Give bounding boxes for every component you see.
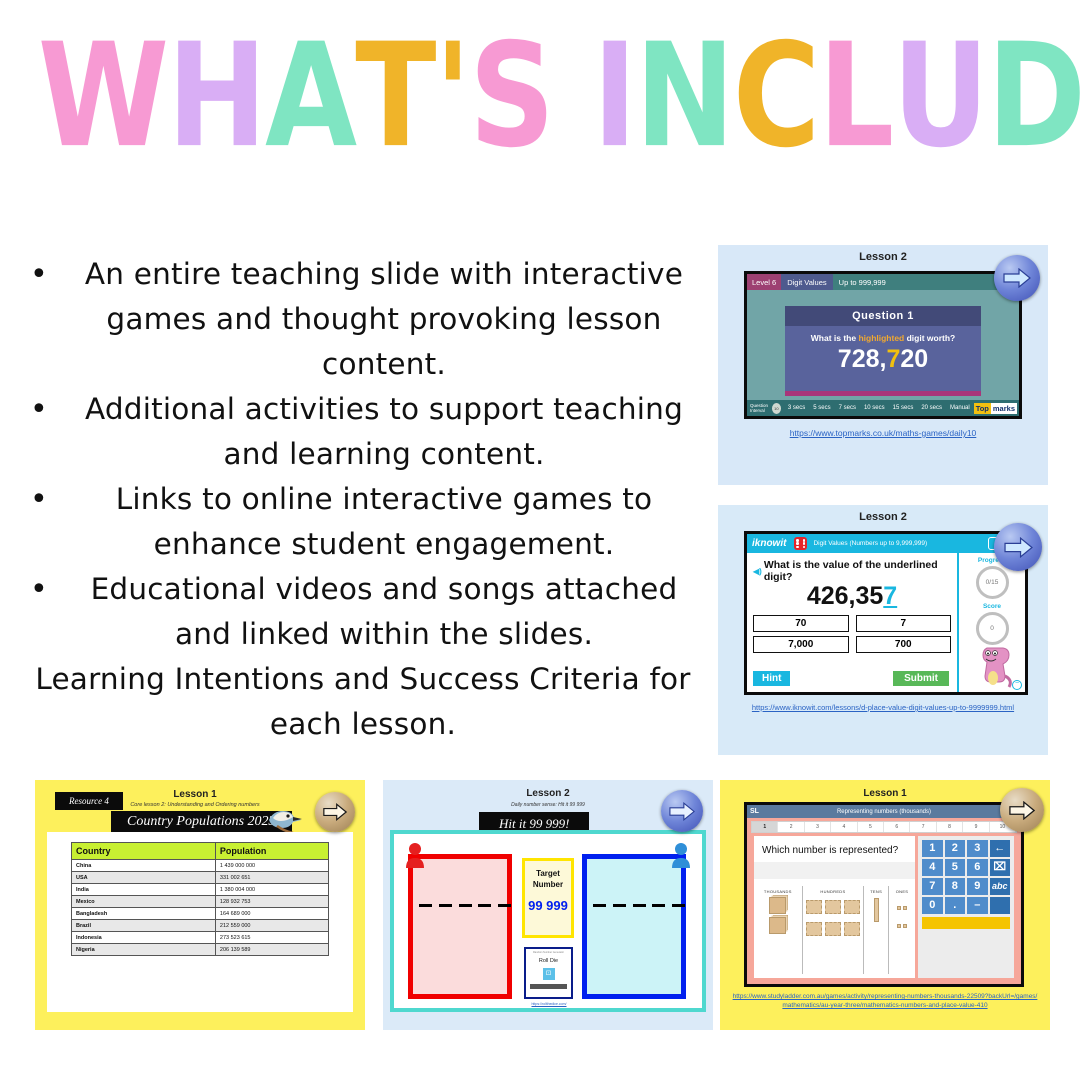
title-letter-11: U — [892, 13, 987, 181]
range-label: Up to 999,999 — [833, 274, 892, 290]
cell-population: 331 002 651 — [215, 872, 328, 884]
answer-input[interactable] — [922, 917, 1010, 929]
iknowit-logo: iknowit — [747, 538, 786, 549]
activity-title: Representing numbers (thousands) — [747, 809, 1021, 815]
numeric-keypad-panel: 1 2 3 ← 4 5 6 ⌧ 7 8 9 abc 0 . – — [918, 836, 1014, 978]
cell-population: 206 139 589 — [215, 944, 328, 956]
red-answer-blanks — [419, 904, 511, 907]
place-column-header: HUNDREDS — [803, 889, 864, 894]
question-text: What is the value of the underlined digi… — [764, 559, 951, 583]
zoom-out-icon[interactable]: − — [1012, 680, 1022, 690]
bullet-marker: • — [18, 477, 60, 522]
hundred-flat — [844, 900, 860, 914]
next-slide-button[interactable] — [661, 790, 703, 832]
screenshot-card-iknowit: Lesson 2 iknowit Digit Values (Numbers u… — [718, 505, 1048, 755]
keypad-key[interactable]: 4 — [922, 859, 943, 876]
next-arrow-icon — [1003, 268, 1031, 288]
target-label-line2: Number — [525, 879, 571, 890]
title-letter-7: I — [593, 13, 635, 181]
card-lesson-label: Lesson 2 — [718, 251, 1048, 263]
screenshot-card-country-populations: Resource 4 Lesson 1 Core lesson 2: Under… — [35, 780, 365, 1030]
list-trailing-text: Learning Intentions and Success Criteria… — [18, 657, 708, 747]
place-column-hundreds: HUNDREDS — [803, 886, 865, 974]
progress-ring: 0/15 — [976, 566, 1009, 599]
title-letter-12: D — [987, 13, 1080, 181]
iknowit-body: ◀) What is the value of the underlined d… — [747, 553, 1025, 692]
list-item-text: Additional activities to support teachin… — [60, 387, 708, 477]
place-column-header: ONES — [889, 889, 915, 894]
keypad-key[interactable]: 0 — [922, 897, 943, 914]
subject-label: Digit Values (Numbers up to 9,999,999) — [813, 540, 927, 547]
table-panel: Country Population China 1 439 000 000 U… — [47, 832, 353, 1012]
title-letter-4: ' — [435, 13, 470, 181]
screenshot-card-hit-it: Lesson 2 Daily number sense: Hit it 99 9… — [383, 780, 713, 1030]
question-text: Which number is represented? — [754, 836, 915, 856]
question-area: ◀) What is the value of the underlined d… — [747, 553, 957, 692]
dice-widget-header: Random Number Generator — [526, 951, 571, 954]
list-item: • An entire teaching slide with interact… — [18, 252, 708, 387]
next-slide-button[interactable] — [1000, 788, 1044, 832]
next-arrow-icon — [669, 802, 695, 821]
keypad-key[interactable]: 5 — [945, 859, 966, 876]
interval-label: Question Interval — [747, 403, 772, 413]
score-label: Score — [959, 603, 1025, 610]
title-letter-6 — [553, 13, 593, 181]
cell-country: China — [72, 860, 216, 872]
screenshot-card-studyladder: Lesson 1 SL Representing numbers (thousa… — [720, 780, 1050, 1030]
answer-option[interactable]: 700 — [856, 636, 952, 653]
speaker-icon[interactable]: ◀) — [753, 567, 762, 576]
place-column-tens: TENS — [864, 886, 889, 974]
hundred-flat — [844, 922, 860, 936]
title-letter-3: T — [355, 13, 434, 181]
roll-die-label: Roll Die — [526, 958, 571, 964]
next-slide-button[interactable] — [994, 255, 1040, 301]
blue-answer-blanks — [593, 904, 685, 907]
step-progress-bar: 1 2 3 4 5 6 7 8 9 10 — [751, 821, 1017, 833]
numeric-keypad: 1 2 3 ← 4 5 6 ⌧ 7 8 9 abc 0 . – — [922, 840, 1010, 914]
activity-frame: Target Number 99 999 Random Number Gener… — [390, 830, 706, 1012]
place-column-header: TENS — [864, 889, 888, 894]
card-lesson-label: Lesson 2 — [718, 511, 1048, 523]
question-text-highlight: highlighted — [858, 333, 904, 343]
answer-option[interactable]: 7,000 — [753, 636, 849, 653]
list-item: • Educational videos and songs attached … — [18, 567, 708, 657]
interval-toolbar: Question Interval 10 3 secs 5 secs 7 sec… — [747, 400, 1019, 416]
bullet-marker: • — [18, 252, 60, 297]
cell-population: 273 523 615 — [215, 932, 328, 944]
cell-country: Nigeria — [72, 944, 216, 956]
keypad-key[interactable]: 1 — [922, 840, 943, 857]
hundred-flat — [806, 922, 822, 936]
one-unit — [903, 924, 907, 928]
table-row: USA 331 002 651 — [72, 872, 329, 884]
cell-country: Bangladesh — [72, 908, 216, 920]
studyladder-game-screen: SL Representing numbers (thousands) ✎ 1 … — [744, 802, 1024, 987]
table-row: Brazil 212 559 000 — [72, 920, 329, 932]
next-arrow-icon — [1009, 801, 1035, 820]
thousand-cube — [769, 897, 786, 914]
cell-population: 128 932 753 — [215, 896, 328, 908]
title-letter-9: C — [733, 13, 819, 181]
cell-population: 164 689 000 — [215, 908, 328, 920]
source-url-link[interactable]: https://www.iknowit.com/lessons/d-place-… — [718, 703, 1048, 712]
question-progress-bar — [785, 391, 981, 396]
source-url-link[interactable]: https://www.studyladder.com.au/games/act… — [732, 992, 1038, 1010]
table-header-row: Country Population — [72, 843, 329, 860]
number-pre: 426,35 — [807, 582, 883, 610]
dinosaur-mascot-icon — [973, 642, 1013, 688]
bullet-marker: • — [18, 387, 60, 432]
title-letter-2: A — [265, 13, 355, 181]
next-slide-button[interactable] — [315, 792, 355, 832]
progress-sidebar: Progress 0/15 Score 0 − — [957, 553, 1025, 692]
keypad-key[interactable]: 8 — [945, 878, 966, 895]
cell-population: 1 439 000 000 — [215, 860, 328, 872]
answer-option[interactable]: 70 — [753, 615, 849, 632]
interval-dial[interactable]: 10 — [772, 403, 781, 414]
card-lesson-label: Lesson 2 — [383, 788, 713, 799]
iknowit-top-bar: iknowit Digit Values (Numbers up to 9,99… — [747, 534, 1025, 553]
thousand-cube — [769, 917, 786, 934]
population-table: Country Population China 1 439 000 000 U… — [71, 842, 329, 956]
topmarks-logo-top: Top — [974, 403, 991, 414]
interval-option[interactable]: 5 secs — [809, 405, 834, 411]
interval-option[interactable]: 3 secs — [784, 405, 809, 411]
topic-badge: Digit Values — [781, 274, 832, 290]
one-unit — [897, 906, 901, 910]
player-blue-icon — [670, 842, 692, 868]
question-text-pre: What is the — [811, 333, 859, 343]
question-row: ◀) What is the value of the underlined d… — [753, 559, 951, 583]
cell-population: 1 380 004 000 — [215, 884, 328, 896]
title-letter-8: N — [635, 13, 733, 181]
die-face-icon[interactable]: ⚀ — [543, 968, 555, 980]
keypad-key[interactable]: 6 — [967, 859, 988, 876]
score-ring: 0 — [976, 612, 1009, 645]
cell-country: USA — [72, 872, 216, 884]
number-post: 20 — [900, 345, 928, 373]
number-pre: 728, — [838, 345, 887, 373]
hundred-flat — [825, 922, 841, 936]
title-letter-5: S — [469, 13, 553, 181]
list-item: • Additional activities to support teach… — [18, 387, 708, 477]
kookaburra-bird-icon — [263, 804, 303, 834]
step-item[interactable]: 5 — [858, 822, 884, 832]
answer-row: 7,000 700 — [753, 636, 951, 653]
table-row: India 1 380 004 000 — [72, 884, 329, 896]
keypad-minus-key[interactable]: – — [967, 897, 988, 914]
title-letter-1: H — [167, 13, 265, 181]
keypad-clear-key[interactable]: ⌧ — [990, 859, 1011, 876]
topmarks-logo-marks: marks — [991, 403, 1017, 414]
interval-option[interactable]: 15 secs — [889, 405, 918, 411]
keypad-key[interactable]: 3 — [967, 840, 988, 857]
title-letter-10: L — [818, 13, 892, 181]
step-item[interactable]: 3 — [805, 822, 831, 832]
keypad-key[interactable]: 2 — [945, 840, 966, 857]
studyladder-top-bar: SL Representing numbers (thousands) ✎ — [747, 805, 1021, 818]
iknowit-game-screen: iknowit Digit Values (Numbers up to 9,99… — [744, 531, 1028, 695]
player-red-board — [408, 854, 512, 999]
number-underlined-digit: 7 — [883, 582, 897, 610]
question-text: What is the highlighted digit worth? — [785, 333, 981, 343]
level-badge: Level 6 — [747, 274, 781, 290]
next-arrow-icon — [1004, 537, 1033, 558]
card-lesson-label: Lesson 1 — [90, 789, 300, 800]
target-label-line1: Target — [525, 868, 571, 879]
cell-population: 212 559 000 — [215, 920, 328, 932]
list-item: • Links to online interactive games to e… — [18, 477, 708, 567]
interval-option[interactable]: 10 secs — [860, 405, 889, 411]
cell-country: Mexico — [72, 896, 216, 908]
answer-option[interactable]: 7 — [856, 615, 952, 632]
source-url-link[interactable]: https://www.topmarks.co.uk/maths-games/d… — [718, 428, 1048, 438]
one-unit — [897, 924, 901, 928]
interval-option[interactable]: 20 secs — [917, 405, 946, 411]
place-column-header: THOUSANDS — [754, 889, 802, 894]
list-item-text: Educational videos and songs attached an… — [60, 567, 708, 657]
cell-country: Brazil — [72, 920, 216, 932]
step-item[interactable]: 2 — [778, 822, 804, 832]
question-header: Question 1 — [785, 306, 981, 326]
keypad-abc-key[interactable]: abc — [990, 878, 1011, 895]
submit-button[interactable]: Submit — [893, 671, 949, 686]
question-panel: Question 1 What is the highlighted digit… — [785, 306, 981, 396]
step-item[interactable]: 7 — [910, 822, 936, 832]
keypad-decimal-key[interactable]: . — [945, 897, 966, 914]
interval-option[interactable]: 7 secs — [835, 405, 860, 411]
table-row: Bangladesh 164 689 000 — [72, 908, 329, 920]
step-item[interactable]: 4 — [831, 822, 857, 832]
question-number: 728,720 — [785, 345, 981, 374]
cell-country: Indonesia — [72, 932, 216, 944]
step-item[interactable]: 9 — [963, 822, 989, 832]
card-lesson-label: Lesson 1 — [720, 788, 1050, 799]
hundred-flat — [825, 900, 841, 914]
keypad-key[interactable]: 7 — [922, 878, 943, 895]
topmarks-top-bar: Level 6 Digit Values Up to 999,999 — [747, 274, 1019, 290]
list-item-text: Links to online interactive games to enh… — [60, 477, 708, 567]
feature-list: • An entire teaching slide with interact… — [18, 252, 708, 747]
topmarks-logo: Topmarks — [974, 402, 1017, 414]
dice-source-url-link[interactable]: https://rollthedice.com/ — [520, 1002, 578, 1006]
topmarks-game-screen: Level 6 Digit Values Up to 999,999 Quest… — [744, 271, 1022, 419]
place-column-ones: ONES — [889, 886, 915, 974]
dice-roller-widget[interactable]: Random Number Generator Roll Die ⚀ — [524, 947, 573, 999]
table-row: Mexico 128 932 753 — [72, 896, 329, 908]
step-item[interactable]: 1 — [752, 822, 778, 832]
next-slide-button[interactable] — [994, 523, 1042, 571]
keypad-key[interactable]: 9 — [967, 878, 988, 895]
answer-row: 70 7 — [753, 615, 951, 632]
step-item[interactable]: 6 — [884, 822, 910, 832]
player-red-icon — [404, 842, 426, 868]
column-header-country: Country — [72, 843, 216, 860]
title-letter-0: W — [38, 13, 167, 181]
interval-option[interactable]: Manual — [946, 405, 974, 411]
list-item-text: An entire teaching slide with interactiv… — [60, 252, 708, 387]
column-header-population: Population — [215, 843, 328, 860]
question-text-post: digit worth? — [904, 333, 955, 343]
table-row: China 1 439 000 000 — [72, 860, 329, 872]
keypad-backspace-key[interactable]: ← — [990, 840, 1011, 857]
bullet-marker: • — [18, 567, 60, 612]
hint-button[interactable]: Hint — [753, 671, 790, 686]
table-row: Nigeria 206 139 589 — [72, 944, 329, 956]
cell-country: India — [72, 884, 216, 896]
number-highlighted-digit: 7 — [886, 345, 900, 373]
dice-widget-footer — [529, 989, 571, 992]
table-row: Indonesia 273 523 615 — [72, 932, 329, 944]
target-number-box: Target Number 99 999 — [522, 858, 574, 938]
question-divider-band — [754, 862, 915, 879]
one-unit — [903, 906, 907, 910]
keypad-blank-key[interactable] — [990, 897, 1011, 914]
place-value-columns: THOUSANDS HUNDREDS TENS — [754, 886, 915, 974]
place-column-thousands: THOUSANDS — [754, 886, 803, 974]
next-arrow-icon — [323, 803, 347, 821]
question-number: 426,357 — [753, 582, 951, 611]
hundred-flat — [806, 900, 822, 914]
studyladder-body: Which number is represented? THOUSANDS H… — [754, 836, 1014, 978]
dice-icon — [794, 537, 807, 550]
player-blue-board — [582, 854, 686, 999]
ten-rod — [874, 898, 879, 922]
page-title: WHAT'S INCLUDED — [38, 13, 1042, 181]
target-number-value: 99 999 — [525, 898, 571, 913]
question-panel: Which number is represented? THOUSANDS H… — [754, 836, 915, 978]
step-item[interactable]: 8 — [937, 822, 963, 832]
screenshot-card-topmarks: Lesson 2 Level 6 Digit Values Up to 999,… — [718, 245, 1048, 485]
